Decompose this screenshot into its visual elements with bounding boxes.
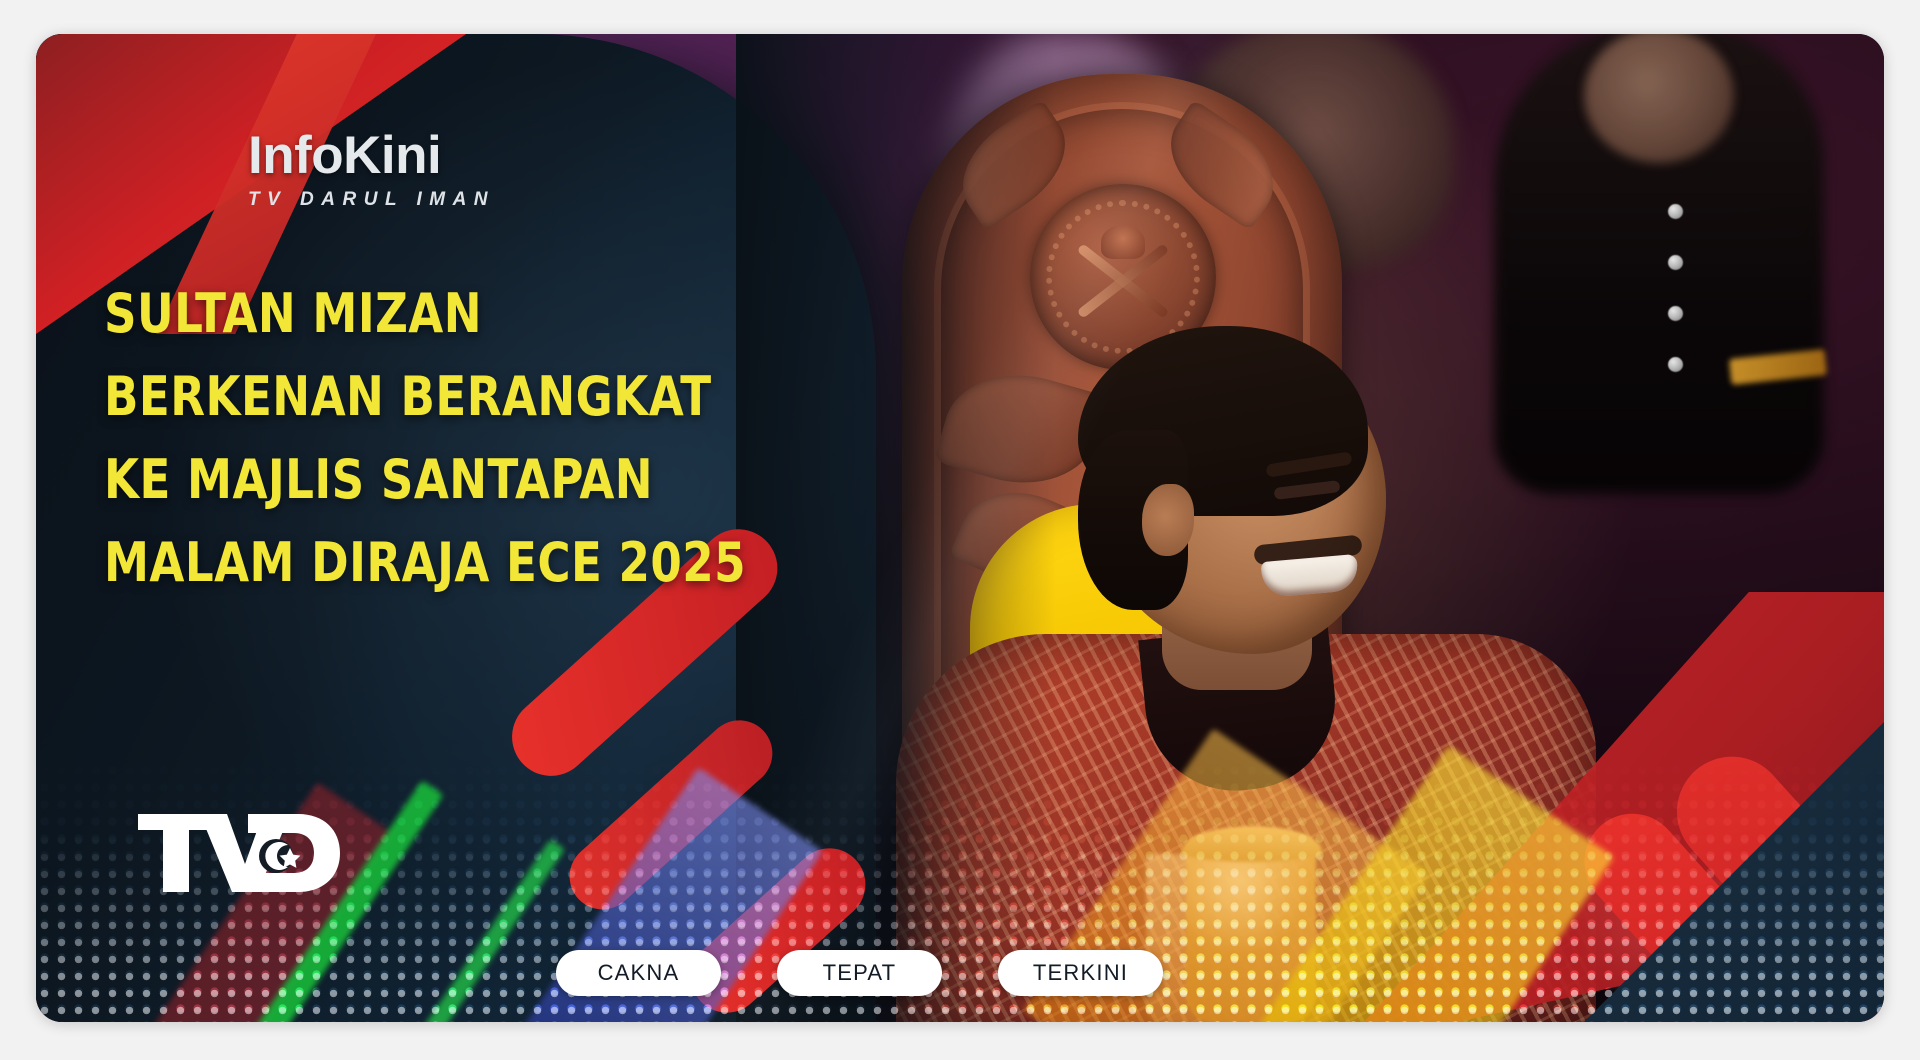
headline-line-1: SULTAN MIZAN xyxy=(104,272,699,355)
crescent-star-icon xyxy=(259,839,300,873)
pill-cakna[interactable]: CAKNA xyxy=(556,950,721,996)
pill-tepat[interactable]: TEPAT xyxy=(777,950,942,996)
brand-lockup: InfoKini TV DARUL IMAN xyxy=(248,129,495,211)
headline-line-4: MALAM DIRAJA ECE 2025 xyxy=(104,521,699,604)
tvd-logo xyxy=(136,812,342,894)
news-card: InfoKini TV DARUL IMAN SULTAN MIZAN BERK… xyxy=(36,34,1884,1022)
brand-tagline: TV DARUL IMAN xyxy=(248,189,495,211)
headline-line-2: BERKENAN BERANGKAT xyxy=(104,355,699,438)
headline-line-3: KE MAJLIS SANTAPAN xyxy=(104,438,699,521)
background-figure-head xyxy=(1584,34,1734,163)
tagline-pills: CAKNA TEPAT TERKINI xyxy=(556,950,1163,996)
pill-terkini[interactable]: TERKINI xyxy=(998,950,1163,996)
screenshot-root: InfoKini TV DARUL IMAN SULTAN MIZAN BERK… xyxy=(0,0,1920,1060)
headline: SULTAN MIZAN BERKENAN BERANGKAT KE MAJLI… xyxy=(104,272,699,604)
baju-melayu-buttons xyxy=(1668,204,1684,408)
brand-name: InfoKini xyxy=(248,129,495,182)
